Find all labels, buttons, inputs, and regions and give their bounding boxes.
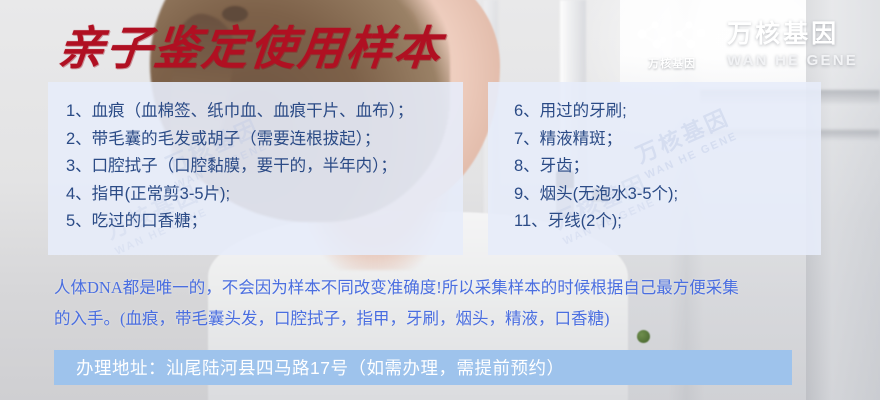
dna-molecule-icon: 万核基因 — [633, 20, 711, 70]
list-item: 1、血痕（血棉签、纸巾血、血痕干片、血布）； — [66, 98, 463, 126]
list-item: 7、精液精斑； — [514, 126, 821, 154]
list-item: 3、口腔拭子（口腔黏膜，要干的，半年内）； — [66, 153, 463, 181]
page-title: 亲子鉴定使用样本 — [55, 22, 445, 76]
list-item: 11、牙线(2个); — [514, 208, 821, 236]
address-banner: 办理地址：汕尾陆河县四马路17号（如需办理，需提前预约） — [54, 350, 792, 385]
address-text: 办理地址：汕尾陆河县四马路17号（如需办理，需提前预约） — [54, 355, 564, 380]
list-item: 6、用过的牙刷; — [514, 98, 821, 126]
brand-name-en: WAN HE GENE — [727, 53, 858, 68]
list-item: 9、烟头(无泡水3-5个); — [514, 181, 821, 209]
poster-canvas: 亲子鉴定使用样本 — [0, 0, 880, 400]
note-line-2: 的入手。(血痕，带毛囊头发，口腔拭子，指甲，牙刷，烟头，精液，口香糖) — [54, 303, 844, 334]
list-item: 8、牙齿； — [514, 153, 821, 181]
brand-wordmark: 万核基因 WAN HE GENE — [727, 22, 858, 68]
sample-list-right: 6、用过的牙刷; 7、精液精斑； 8、牙齿； 9、烟头(无泡水3-5个); 11… — [488, 82, 821, 236]
list-item: 5、吃过的口香糖； — [66, 208, 463, 236]
list-item: 4、指甲(正常剪3-5片); — [66, 181, 463, 209]
list-item: 2、带毛囊的毛发或胡子（需要连根拔起）； — [66, 126, 463, 154]
brand-name-cn: 万核基因 — [727, 22, 858, 47]
sample-list-left: 1、血痕（血棉签、纸巾血、血痕干片、血布）； 2、带毛囊的毛发或胡子（需要连根拔… — [48, 82, 463, 236]
person-hair-tie — [222, 6, 248, 22]
sample-list-panel-right: 万核基因 WAN HE GENE 万核基因 WAN HE GENE 6、用过的牙… — [488, 82, 821, 255]
brand-logo: 万核基因 万核基因 WAN HE GENE — [633, 20, 858, 70]
sample-list-panel-left: 万核基因 WAN HE GENE 万核基因 WAN HE GENE 1、血痕（血… — [48, 82, 463, 255]
brand-mark-label: 万核基因 — [648, 55, 696, 71]
note-line-1: 人体DNA都是唯一的，不会因为样本不同改变准确度!所以采集样本的时候根据自己最方… — [54, 272, 844, 303]
explanatory-note: 人体DNA都是唯一的，不会因为样本不同改变准确度!所以采集样本的时候根据自己最方… — [54, 272, 844, 334]
